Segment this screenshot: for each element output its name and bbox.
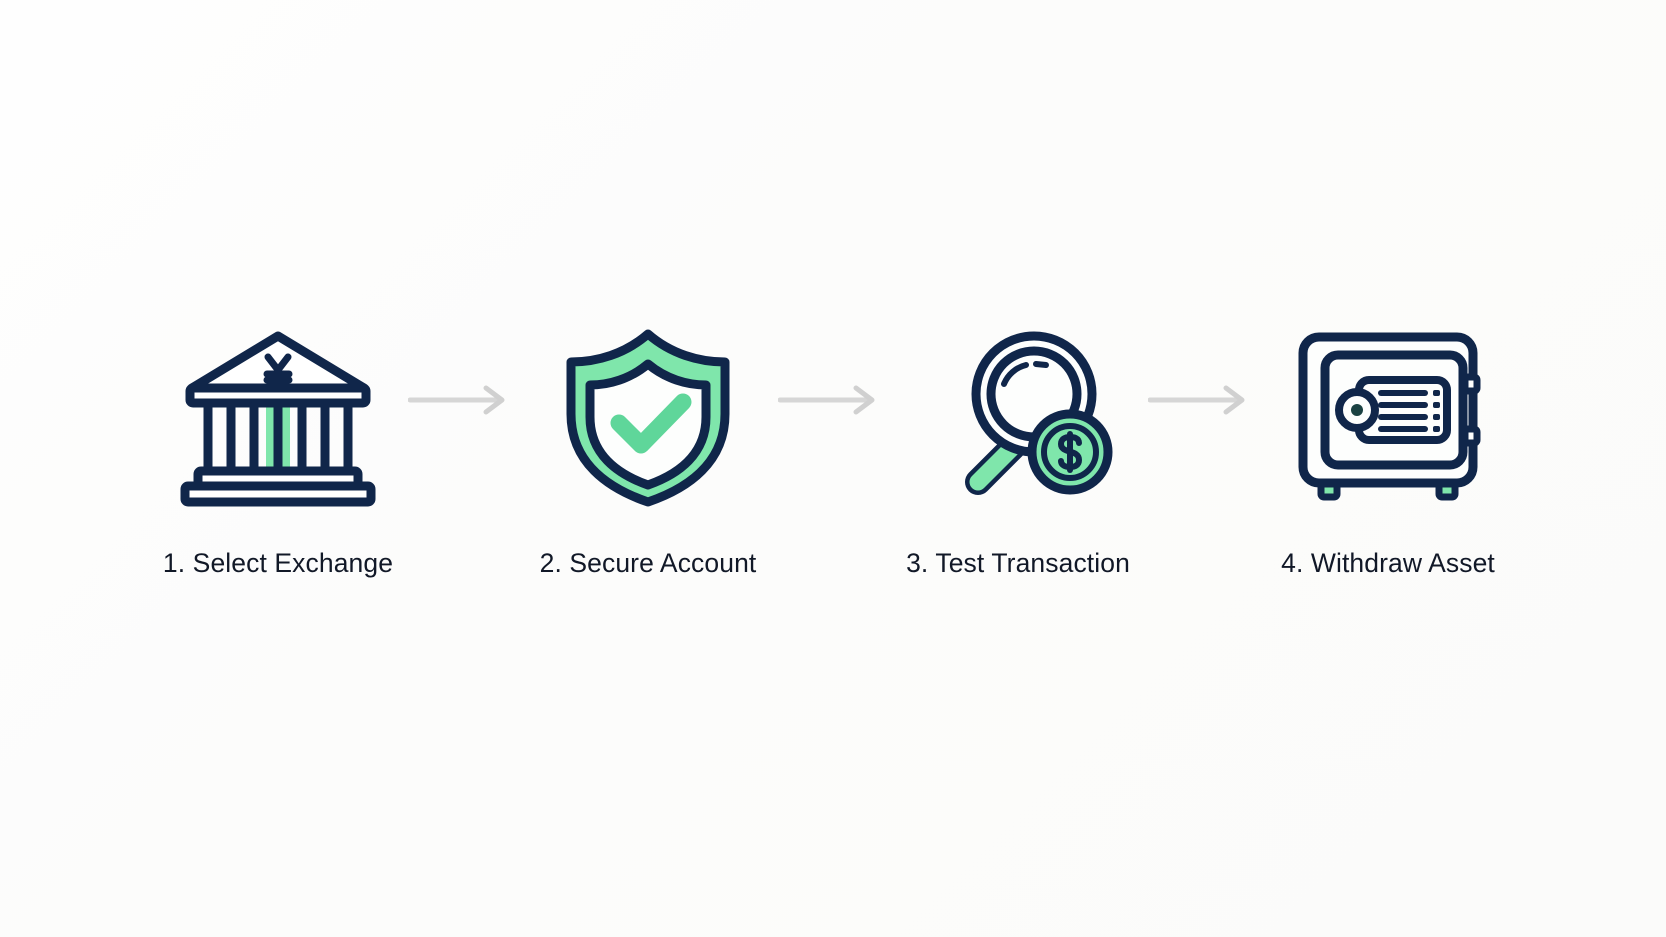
arrow-3-to-4 <box>1143 318 1263 518</box>
safe-vault-icon <box>1288 318 1488 518</box>
process-step-1[interactable]: 1. Select Exchange <box>153 318 403 579</box>
process-step-2[interactable]: 2. Secure Account <box>523 318 773 579</box>
process-flow-steps: 1. Select Exchange <box>153 318 1513 579</box>
process-step-2-label: 2. Secure Account <box>540 548 757 579</box>
process-step-1-label: 1. Select Exchange <box>163 548 393 579</box>
bank-building-yen-icon <box>178 318 378 518</box>
process-step-3[interactable]: 3. Test Transaction <box>893 318 1143 579</box>
process-step-3-label: 3. Test Transaction <box>906 548 1130 579</box>
process-step-4[interactable]: 4. Withdraw Asset <box>1263 318 1513 579</box>
shield-check-icon <box>548 318 748 518</box>
process-flow: 1. Select Exchange <box>0 0 1666 937</box>
magnifier-dollar-coin-icon <box>918 318 1118 518</box>
diagram-canvas: 1. Select Exchange <box>0 0 1666 937</box>
arrow-2-to-3 <box>773 318 893 518</box>
arrow-1-to-2 <box>403 318 523 518</box>
process-step-4-label: 4. Withdraw Asset <box>1281 548 1495 579</box>
